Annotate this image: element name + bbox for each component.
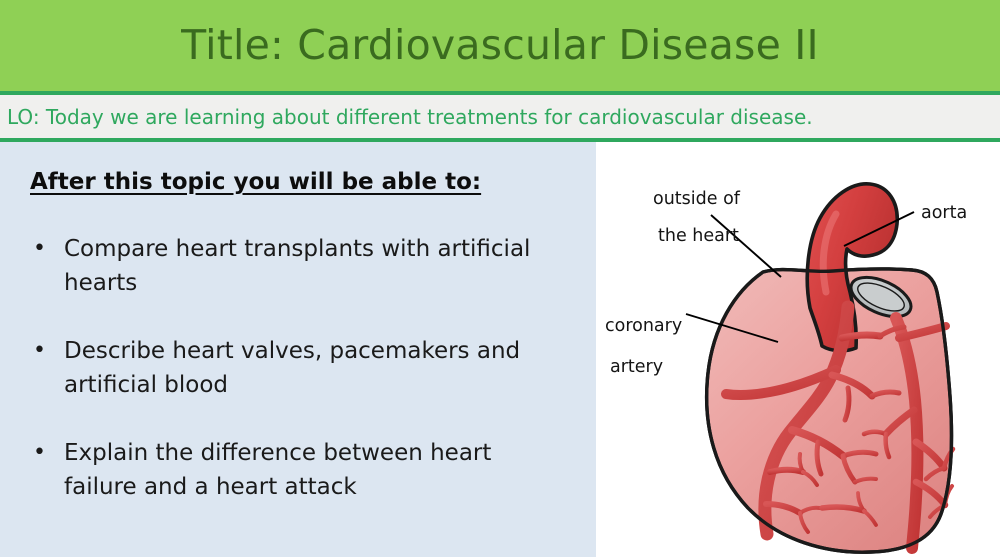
- list-item-label: Compare heart transplants with artificia…: [64, 232, 534, 300]
- objectives-panel: After this topic you will be able to: • …: [0, 142, 596, 557]
- list-item: • Explain the difference between heart f…: [22, 436, 582, 504]
- bullet-marker-icon: •: [22, 334, 64, 368]
- learning-objective-text: LO: Today we are learning about differen…: [0, 107, 813, 127]
- objectives-heading: After this topic you will be able to:: [30, 169, 481, 195]
- list-item-label: Describe heart valves, pacemakers and ar…: [64, 334, 534, 402]
- learning-objective-banner: LO: Today we are learning about differen…: [0, 91, 1000, 142]
- list-item: • Describe heart valves, pacemakers and …: [22, 334, 582, 402]
- label-outside-of-heart-line2: the heart: [658, 226, 739, 246]
- heart-diagram-image: outside of the heart coronary artery aor…: [596, 142, 1000, 557]
- list-item: • Compare heart transplants with artific…: [22, 232, 582, 300]
- list-item-label: Explain the difference between heart fai…: [64, 436, 534, 504]
- heart-diagram-panel: outside of the heart coronary artery aor…: [596, 142, 1000, 557]
- label-coronary-artery-line1: coronary: [605, 316, 682, 336]
- outside-of-heart-leader-line: [711, 215, 781, 277]
- bullet-marker-icon: •: [22, 436, 64, 470]
- slide-title-bar: Title: Cardiovascular Disease II: [0, 0, 1000, 91]
- page-title: Title: Cardiovascular Disease II: [181, 25, 819, 66]
- label-aorta: aorta: [921, 203, 967, 223]
- label-outside-of-heart-line1: outside of: [653, 189, 741, 209]
- label-coronary-artery-line2: artery: [610, 357, 663, 377]
- slide-body: After this topic you will be able to: • …: [0, 142, 1000, 557]
- slide-root: Title: Cardiovascular Disease II LO: Tod…: [0, 0, 1000, 557]
- objectives-list: • Compare heart transplants with artific…: [22, 232, 582, 538]
- bullet-marker-icon: •: [22, 232, 64, 266]
